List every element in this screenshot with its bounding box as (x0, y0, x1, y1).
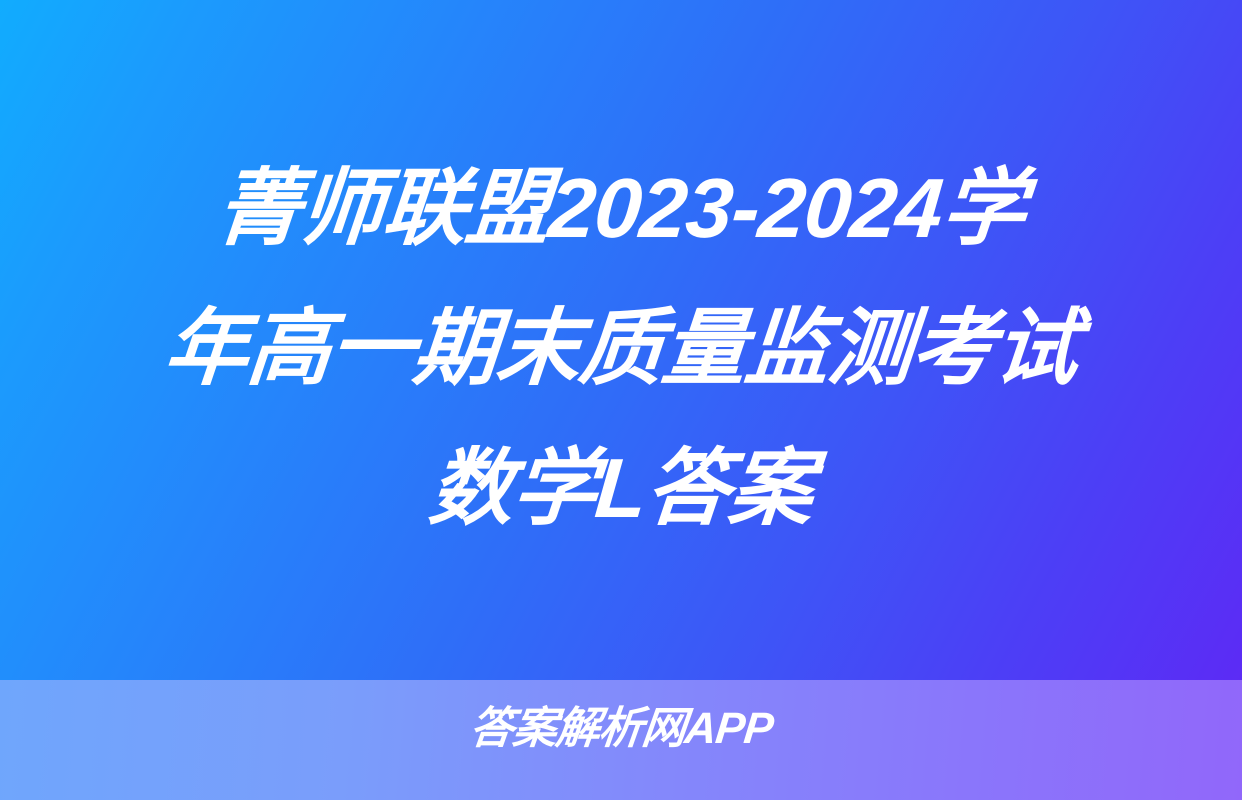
poster-canvas: 菁师联盟2023-2024学 年高一期末质量监测考试 数学L答案 答案解析网AP… (0, 0, 1242, 800)
watermark: 答案解析网APP (0, 700, 1242, 758)
title-line-1: 菁师联盟2023-2024学 (55, 138, 1187, 278)
title-line-3: 数学L答案 (55, 418, 1187, 558)
title-block: 菁师联盟2023-2024学 年高一期末质量监测考试 数学L答案 (0, 0, 1242, 680)
watermark-label: 答案解析网APP (467, 700, 776, 758)
title-line-2: 年高一期末质量监测考试 (55, 278, 1187, 418)
